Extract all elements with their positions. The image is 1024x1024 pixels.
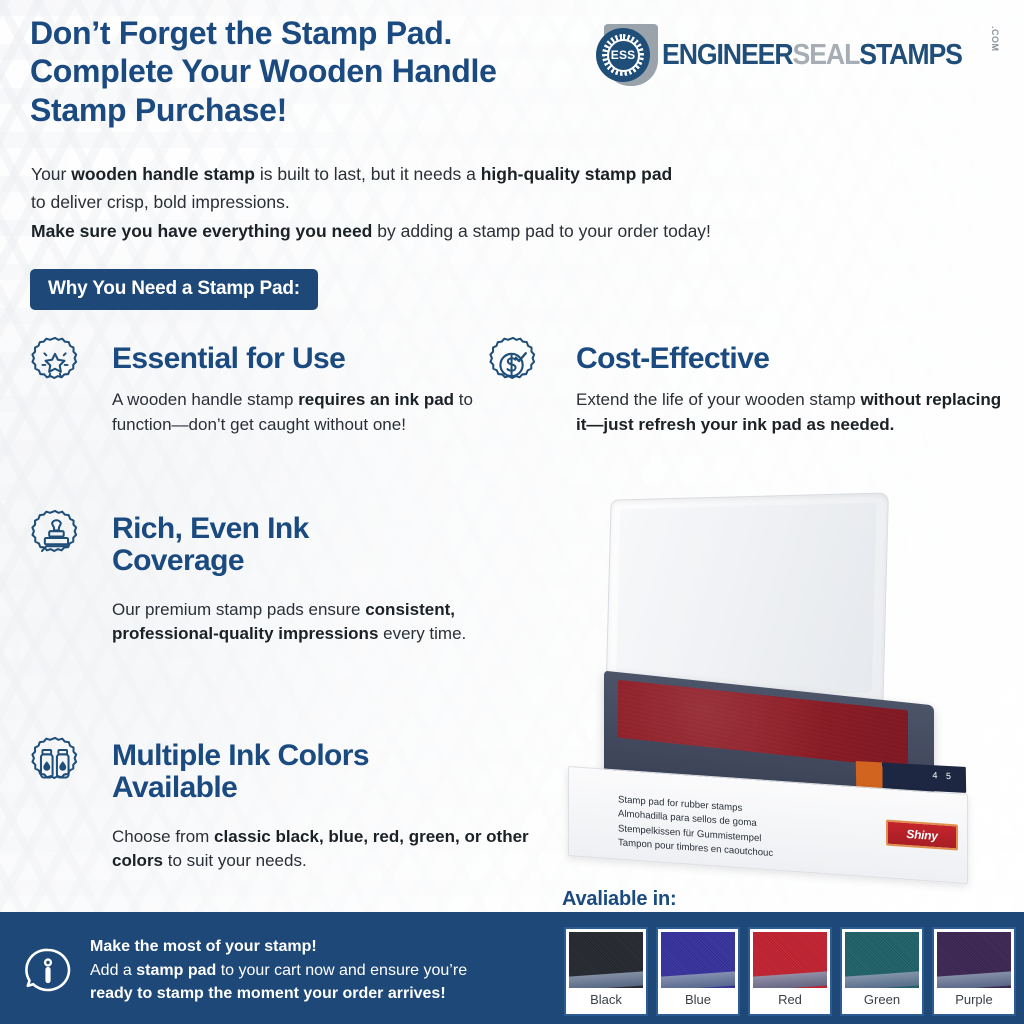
swatch-label: Black <box>569 988 643 1011</box>
shiny-brand-logo: Shiny <box>886 819 958 850</box>
feature-body-text: Our premium stamp pads ensure <box>112 600 365 619</box>
footer-bold-stamp-pad: stamp pad <box>136 962 216 979</box>
badge-star-icon <box>26 335 84 393</box>
feature-body-bold: requires an ink pad <box>298 390 454 409</box>
page-title-line-2: Complete Your Wooden Handle <box>30 52 670 90</box>
swatch-label: Blue <box>661 988 735 1011</box>
intro-text: Your <box>31 164 71 184</box>
footer-line-3: ready to stamp the moment your order arr… <box>90 985 446 1002</box>
product-tab-text: 4 5 <box>932 770 954 781</box>
feature-title: Multiple Ink Colors Available <box>112 735 546 805</box>
header: Don’t Forget the Stamp Pad. Complete You… <box>30 14 1000 149</box>
wordmark-engineer: ENGINEER <box>662 39 793 72</box>
feature-rich-even-ink-coverage: Rich, Even Ink Coverage Our premium stam… <box>26 508 496 646</box>
intro-bold-wooden-handle-stamp: wooden handle stamp <box>71 164 255 184</box>
feature-body-text: every time. <box>378 624 466 643</box>
infographic-page: Don’t Forget the Stamp Pad. Complete You… <box>0 0 1024 1024</box>
intro-text: by adding a stamp pad to your order toda… <box>372 221 711 241</box>
swatch-color-chip <box>569 932 643 988</box>
color-swatch-panel: Black Blue Red Green Purple <box>556 917 1024 1024</box>
swatch-color-chip <box>661 932 735 988</box>
brand-logo[interactable]: ESS ENGINEERSEALSTAMPS .COM <box>596 24 1000 86</box>
feature-cost-effective: Cost-Effective Extend the life of your w… <box>484 335 1024 437</box>
swatch-green[interactable]: Green <box>840 927 924 1016</box>
stamp-pad-lid-inner <box>615 503 876 700</box>
feature-body: A wooden handle stamp requires an ink pa… <box>112 388 492 436</box>
why-you-need-badge: Why You Need a Stamp Pad: <box>30 269 318 310</box>
badge-ink-bottles-icon <box>26 735 84 793</box>
feature-multiple-ink-colors: Multiple Ink Colors Available Choose fro… <box>26 735 546 873</box>
swatch-blue[interactable]: Blue <box>656 927 740 1016</box>
wordmark-stamps: STAMPS <box>859 39 962 72</box>
ess-shield-icon: ESS <box>596 24 658 86</box>
intro-text: is built to last, but it needs a <box>255 164 481 184</box>
footer-text-span: to your cart now and ensure you’re <box>216 962 467 979</box>
swatch-label: Red <box>753 988 827 1011</box>
feature-body-text: to suit your needs. <box>163 851 307 870</box>
swatch-label: Purple <box>937 988 1011 1011</box>
feature-body: Extend the life of your wooden stamp wit… <box>576 388 1006 436</box>
intro-line-2: to deliver crisp, bold impressions. <box>31 188 931 216</box>
feature-title-line-1: Rich, Even Ink <box>112 513 496 545</box>
intro-bold-make-sure: Make sure you have everything you need <box>31 221 372 241</box>
wordmark-seal: SEAL <box>793 39 860 72</box>
intro-line-1: Your wooden handle stamp is built to las… <box>31 160 931 188</box>
page-title: Don’t Forget the Stamp Pad. Complete You… <box>30 14 670 129</box>
wordmark-dotcom: .COM <box>990 24 1000 52</box>
swatch-color-chip <box>937 932 1011 988</box>
swatch-label: Green <box>845 988 919 1011</box>
swatch-red[interactable]: Red <box>748 927 832 1016</box>
brand-wordmark: ENGINEERSEALSTAMPS <box>662 39 962 72</box>
page-title-line-1: Don’t Forget the Stamp Pad. <box>30 14 670 52</box>
swatch-purple[interactable]: Purple <box>932 927 1016 1016</box>
badge-stamp-icon <box>26 508 84 566</box>
feature-body-text: Choose from <box>112 827 214 846</box>
feature-title: Essential for Use <box>112 335 496 375</box>
feature-body-text: Extend the life of your wooden stamp <box>576 390 860 409</box>
intro-paragraph: Your wooden handle stamp is built to las… <box>31 160 931 245</box>
feature-title: Rich, Even Ink Coverage <box>112 508 496 578</box>
swatch-color-chip <box>845 932 919 988</box>
feature-body-text: A wooden handle stamp <box>112 390 298 409</box>
feature-title-line-2: Coverage <box>112 545 496 577</box>
info-bubble-icon <box>22 945 74 997</box>
swatch-color-chip <box>753 932 827 988</box>
intro-line-3: Make sure you have everything you need b… <box>31 217 931 245</box>
badge-dollar-check-icon <box>484 335 542 393</box>
feature-essential-for-use: Essential for Use A wooden handle stamp … <box>26 335 496 437</box>
ess-monogram: ESS <box>611 48 636 62</box>
footer-line-2: Add a stamp pad to your cart now and ens… <box>90 959 530 982</box>
footer-callout: Make the most of your stamp! Add a stamp… <box>0 917 556 1024</box>
footer-text: Make the most of your stamp! Add a stamp… <box>90 935 530 1005</box>
available-in-title: Avaliable in: <box>562 888 676 911</box>
footer-text-span: Add a <box>90 962 136 979</box>
feature-title: Cost-Effective <box>576 335 1024 375</box>
feature-body: Choose from classic black, blue, red, gr… <box>112 825 532 873</box>
page-title-line-3: Stamp Purchase! <box>30 91 670 129</box>
intro-bold-high-quality-stamp-pad: high-quality stamp pad <box>481 164 673 184</box>
feature-title-line-1: Multiple Ink Colors <box>112 740 546 772</box>
footer-line-1: Make the most of your stamp! <box>90 938 317 955</box>
swatch-black[interactable]: Black <box>564 927 648 1016</box>
feature-title-line-2: Available <box>112 772 546 804</box>
product-photo-stamp-pad: 4 5 Stamp pad for rubber stamps Almohadi… <box>556 492 1016 884</box>
feature-body: Our premium stamp pads ensure consistent… <box>112 598 482 646</box>
